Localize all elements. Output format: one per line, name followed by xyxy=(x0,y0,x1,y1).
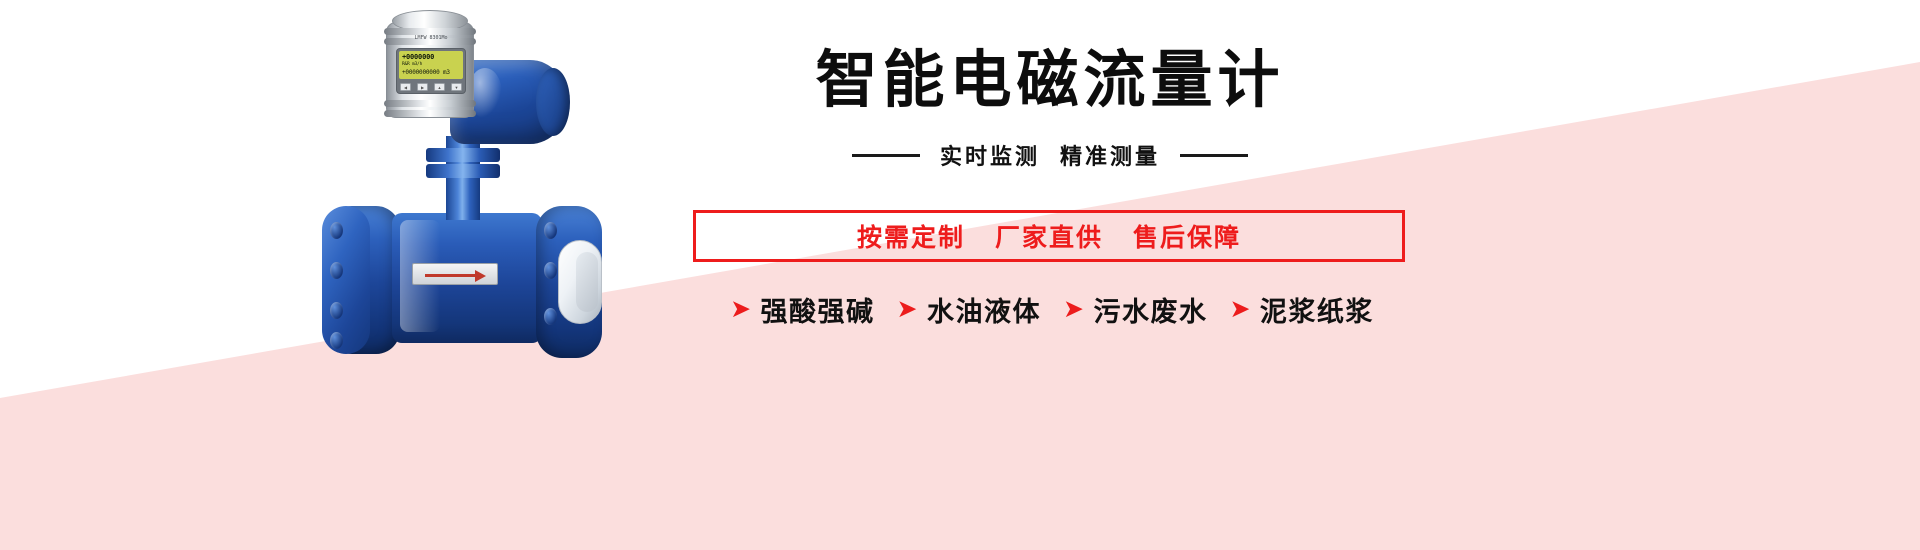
highlight-box: 按需定制 厂家直供 售后保障 xyxy=(693,210,1405,262)
housing-ring xyxy=(384,28,476,35)
neck-flange xyxy=(426,164,500,178)
bolt-icon xyxy=(544,308,557,325)
bolt-icon xyxy=(330,332,343,349)
junction-box-cap xyxy=(536,68,570,136)
arrow-right-icon: ➤ xyxy=(897,297,919,322)
housing-ring xyxy=(384,110,476,117)
feature-item-2: ➤ 水油液体 xyxy=(897,290,1041,329)
product-image-electromagnetic-flowmeter: LMFW 8301Mo +0000000 R&R m3/h +000000000… xyxy=(300,8,680,428)
display-button-down[interactable]: ▼ xyxy=(451,83,462,91)
bolt-icon xyxy=(544,262,557,279)
feature-label-3: 污水废水 xyxy=(1093,290,1207,329)
feature-label-4: 泥浆纸浆 xyxy=(1260,290,1374,329)
subtitle-text-1: 实时监测 xyxy=(940,139,1040,171)
bolt-icon xyxy=(330,302,343,319)
bolt-icon xyxy=(544,222,557,239)
feature-label-1: 强酸强碱 xyxy=(761,290,875,329)
arrow-right-icon: ➤ xyxy=(1229,297,1251,322)
lcd-line-2: R&R m3/h xyxy=(402,62,422,67)
meter-neck-lower xyxy=(446,178,480,220)
display-button-row[interactable]: ◀ ▶ ▲ ▼ xyxy=(400,82,462,91)
neck-flange xyxy=(426,148,500,162)
display-button-left[interactable]: ◀ xyxy=(400,83,411,91)
banner-text-block: 智能电磁流量计 实时监测 精准测量 按需定制 厂家直供 售后保障 ➤ 强酸强碱 … xyxy=(660,0,1760,550)
subtitle-dash-right xyxy=(1180,154,1248,157)
display-button-right[interactable]: ▶ xyxy=(417,83,428,91)
feature-list: ➤ 强酸强碱 ➤ 水油液体 ➤ 污水废水 ➤ 泥浆纸浆 xyxy=(612,290,1492,329)
housing-ring xyxy=(384,100,476,107)
transmitter-brand-label: LMFW 8301Mo xyxy=(396,35,466,41)
hero-banner: LMFW 8301Mo +0000000 R&R m3/h +000000000… xyxy=(0,0,1920,550)
highlight-text-3: 售后保障 xyxy=(1133,218,1241,254)
bolt-icon xyxy=(330,262,343,279)
banner-title: 智能电磁流量计 xyxy=(660,48,1440,113)
feature-label-2: 水油液体 xyxy=(927,290,1041,329)
arrow-right-icon: ➤ xyxy=(1063,297,1085,322)
banner-subtitle: 实时监测 精准测量 xyxy=(660,139,1440,171)
feature-item-3: ➤ 污水废水 xyxy=(1063,290,1207,329)
subtitle-dash-left xyxy=(852,154,920,157)
display-button-up[interactable]: ▲ xyxy=(434,83,445,91)
subtitle-text-2: 精准测量 xyxy=(1060,139,1160,171)
highlight-text-2: 厂家直供 xyxy=(995,218,1103,254)
lcd-line-3: +0000000000 m3 xyxy=(402,69,450,76)
flow-direction-arrow-icon xyxy=(412,263,498,285)
highlight-text-1: 按需定制 xyxy=(857,218,965,254)
arrow-right-icon: ➤ xyxy=(730,297,752,322)
feature-item-4: ➤ 泥浆纸浆 xyxy=(1229,290,1373,329)
right-liner-inner xyxy=(576,252,598,312)
lcd-line-1: +0000000 xyxy=(402,53,434,61)
lcd-display: +0000000 R&R m3/h +0000000000 m3 xyxy=(399,51,463,79)
feature-item-1: ➤ 强酸强碱 xyxy=(730,290,874,329)
bolt-icon xyxy=(330,222,343,239)
